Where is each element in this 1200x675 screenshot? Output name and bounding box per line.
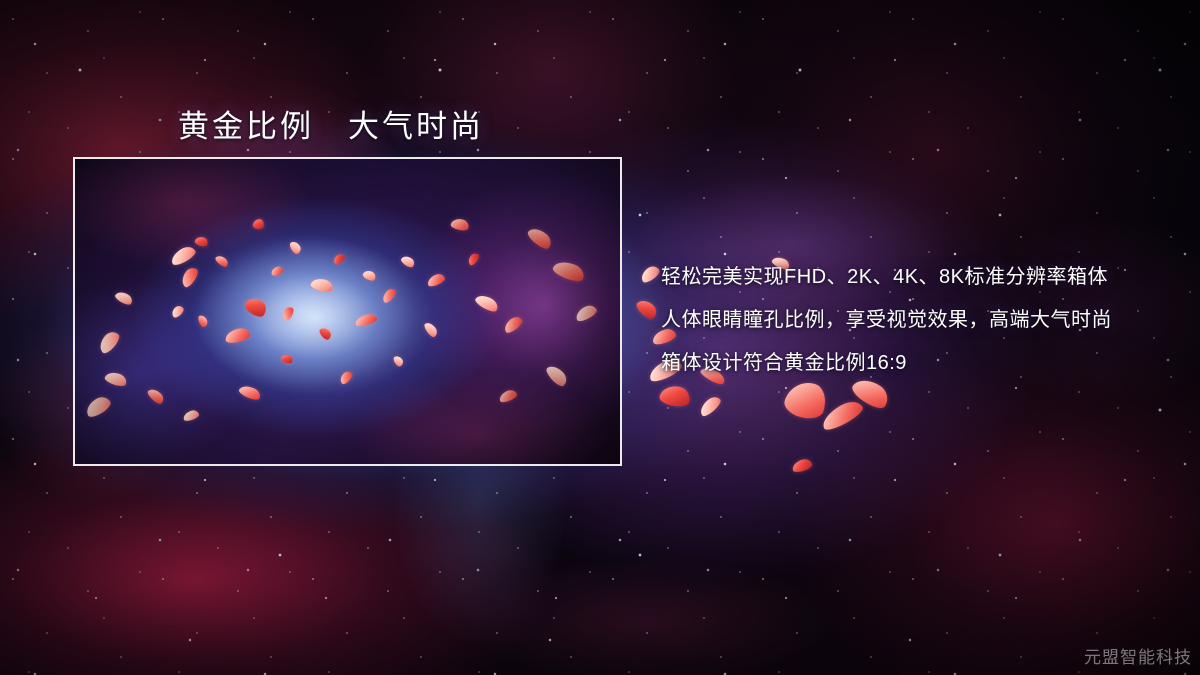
- body-line-2: 人体眼睛瞳孔比例，享受视觉效果，高端大气时尚: [661, 299, 1181, 342]
- petal: [638, 263, 661, 284]
- page-title: 黄金比例 大气时尚: [178, 101, 484, 146]
- petal: [697, 394, 723, 419]
- petal: [818, 397, 865, 434]
- watermark: 元盟智能科技: [1084, 643, 1192, 668]
- framed-image: [73, 157, 622, 466]
- body-copy: 轻松完美实现FHD、2K、4K、8K标准分辨率箱体 人体眼睛瞳孔比例，享受视觉效…: [661, 256, 1181, 385]
- frame-vignette: [75, 159, 620, 464]
- petal: [634, 296, 660, 321]
- petal: [658, 383, 692, 409]
- petal: [791, 457, 813, 473]
- body-line-3: 箱体设计符合黄金比例16:9: [661, 342, 1181, 385]
- body-line-1: 轻松完美实现FHD、2K、4K、8K标准分辨率箱体: [661, 256, 1181, 299]
- presentation-slide: 黄金比例 大气时尚 轻松完美实现FHD、2K、4K、8K标准分辨率箱体 人体眼睛…: [0, 0, 1200, 675]
